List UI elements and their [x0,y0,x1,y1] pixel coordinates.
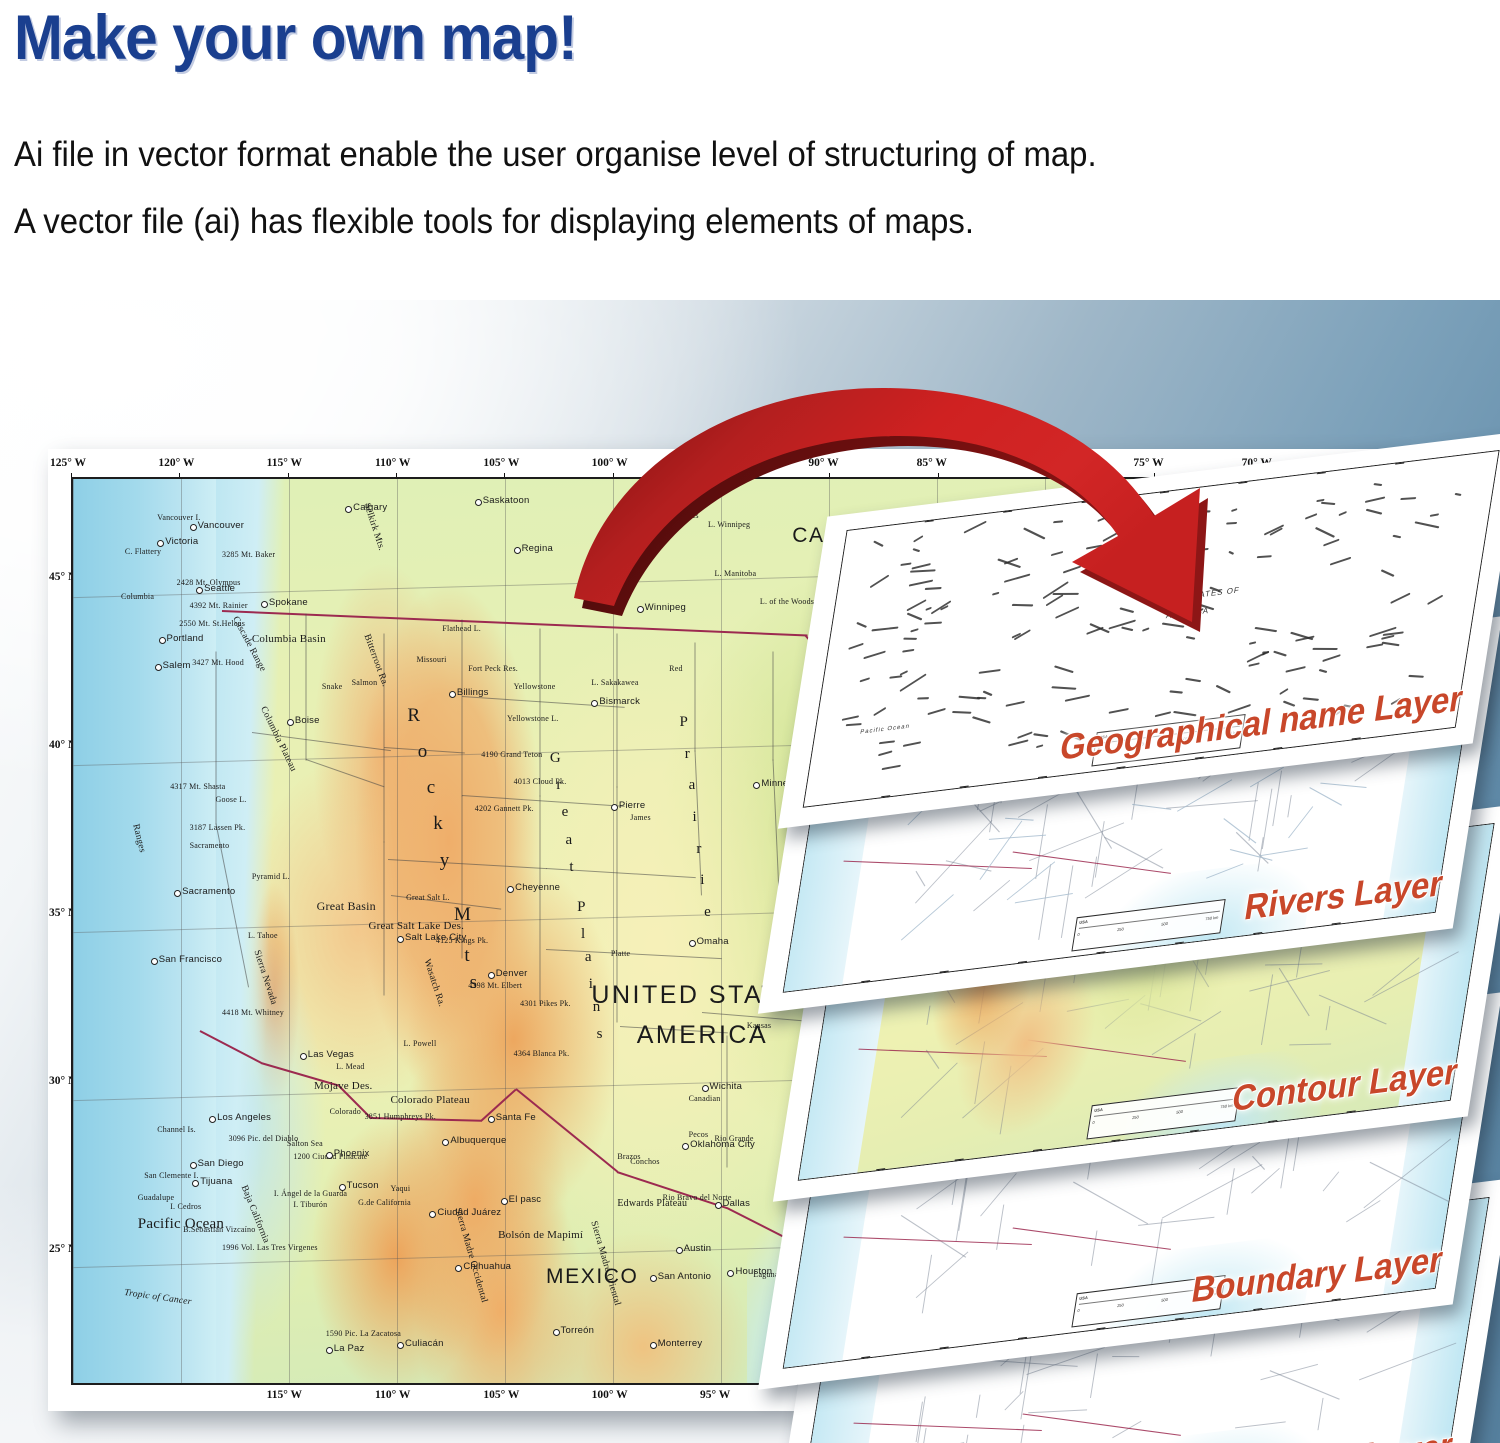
city-label: Omaha [697,936,729,947]
city-label: Boise [295,715,320,726]
ruler-top-label: 100° W [592,457,628,469]
map-label: Sacramento [190,841,230,850]
map-label: Conchos [630,1157,659,1166]
map-label: Canadian [689,1094,721,1103]
ruler-top-label: 105° W [483,457,519,469]
state-border [461,620,462,797]
city-label: Wichita [710,1081,743,1092]
header-line-2: A vector file (ai) has flexible tools fo… [14,202,974,242]
sheet-tick [1273,747,1282,749]
graticule-meridian [181,479,182,1383]
map-label: Rio Bravo del Norte [663,1193,732,1202]
sheet-tick [1238,482,1247,484]
ruler-top-label: 125° W [50,457,86,469]
city-label: Saskatoon [483,495,530,506]
city-label: Oklahoma City [690,1139,755,1150]
sheet-tick [1253,1308,1262,1310]
sheet-tick [1351,737,1360,739]
city-label: Pierre [619,800,646,811]
map-label: Yellowstone L. [507,714,558,723]
sheet-tick [1175,1318,1184,1320]
city-marker [715,1202,722,1209]
map-label: B.Sebastián Vizcaíno [183,1225,255,1234]
map-label: e [562,804,569,821]
map-label: Great Salt Lake Des. [368,920,464,932]
map-label: a [689,777,696,794]
map-label: Guadalupe [138,1193,174,1202]
map-label: P [680,714,689,731]
sheet-tick [959,785,968,787]
city-label: Bismarck [599,696,640,707]
city-marker [190,1162,197,1169]
map-label: 3187 Lassen Pk. [190,823,246,832]
sheet-tick [1096,1327,1105,1329]
map-label: R [407,705,420,727]
illustration-stage: 125° W120° W115° W110° W105° W100° W95° … [0,300,1500,1443]
city-marker [300,1053,307,1060]
map-label: Colorado Plateau [391,1094,470,1106]
map-label: Pecos [689,1130,709,1139]
city-label: Calgary [353,502,387,513]
sheet-tick [1316,472,1325,474]
map-label: 3427 Mt. Hood [192,658,244,667]
map-label: L. Manitoba [715,569,757,578]
city-marker [475,499,482,506]
map-label: I. Cedros [170,1202,201,1211]
map-label: r [696,841,701,858]
city-marker [650,1275,657,1282]
map-label: Great Basin [317,899,376,914]
map-label: 4202 Gannett Pk. [475,804,534,813]
sheet-tick [1331,922,1340,924]
map-label: Yaqui [391,1184,411,1193]
map-label: Missouri [416,655,446,664]
city-label: Salt Lake City [405,932,466,943]
sheet-tick [1175,942,1184,944]
state-border [695,642,696,751]
city-marker [155,664,162,671]
city-label: Houston [735,1266,772,1277]
map-label: i [692,809,696,826]
map-label: L. Winnipegosis [643,511,698,520]
ruler-top-label: 95° W [700,457,730,469]
map-label: 4190 Grand Teton [481,750,542,759]
sheet-tick [1018,961,1027,963]
map-label: k [433,813,443,835]
map-label: 4317 Mt. Shasta [170,782,225,791]
city-marker [326,1347,333,1354]
city-label: Las Vegas [308,1049,354,1060]
map-label: L. of the Woods [760,597,814,606]
city-marker [488,972,495,979]
city-label: Regina [522,543,553,554]
city-label: La Paz [334,1343,365,1354]
sheet-tick [861,980,870,982]
map-label: y [440,850,450,872]
map-label: Fort Peck Res. [468,664,518,673]
state-border [384,841,385,995]
city-label: Tijuana [200,1176,232,1187]
sheet-tick [1033,1149,1042,1151]
sheet-tick [876,1168,885,1170]
ruler-top-label: 85° W [917,457,947,469]
graticule-meridian [613,479,614,1383]
sheet-tick [1395,463,1404,465]
sheet-tick [1111,1139,1120,1141]
graticule-meridian [73,479,74,1383]
city-label: Albuquerque [450,1135,506,1146]
map-label: Goose L. [216,795,247,804]
sheet-tick [1331,1298,1340,1300]
sheet-tick [1268,1120,1277,1122]
map-label: c [427,777,436,799]
map-label: e [704,904,711,921]
city-label: Chihuahua [463,1261,511,1272]
graticule-meridian [505,479,506,1383]
city-label: San Diego [198,1158,244,1169]
map-label: L. Sakakawea [591,678,638,687]
city-label: Vancouver [198,520,245,531]
sheet-tick [861,1356,870,1358]
city-label: Austin [684,1243,712,1254]
city-marker [637,606,644,613]
city-marker [501,1198,508,1205]
city-marker [151,958,158,965]
city-label: Billings [457,687,489,698]
map-label: r [685,746,690,763]
sheet-tick [1253,932,1262,934]
map-label: t [464,945,469,967]
map-label: Red [669,664,683,673]
ruler-bottom-label: 95° W [700,1389,730,1401]
map-label: i [700,872,704,889]
ruler-bottom-label: 110° W [375,1389,410,1401]
page-title: Make your own map! [14,2,577,74]
city-marker [192,1180,199,1187]
city-label: Salem [163,660,191,671]
map-label: 3851 Humphreys Pk. [365,1112,436,1121]
map-label: L. Powell [403,1039,436,1048]
city-label: Torreón [561,1325,595,1336]
map-label: a [565,832,572,849]
map-label: 4013 Cloud Pk. [514,777,567,786]
map-label: Pyramid L. [252,872,290,881]
header-line-1: Ai file in vector format enable the user… [14,135,1097,175]
page-header: Make your own map! Ai file in vector for… [0,0,1500,300]
map-label: Colorado [330,1107,361,1116]
state-border [539,796,540,1005]
ruler-bottom-label: 115° W [267,1389,302,1401]
city-label: Santa Fe [496,1112,536,1123]
map-label: 1996 Vol. Las Tres Virgenes [222,1243,318,1252]
city-label: Cheyenne [515,882,560,893]
city-marker [689,940,696,947]
sheet-tick [1003,511,1012,513]
map-label: Great Salt L. [406,893,450,902]
sheet-tick [1195,757,1204,759]
map-label: G.de California [358,1198,411,1207]
city-label: Spokane [269,597,308,608]
city-label: Seattle [204,583,235,594]
map-label: L. Mead [336,1062,365,1071]
city-label: Dallas [723,1198,751,1209]
sheet-tick [939,1346,948,1348]
map-label: Bolsón de Mapimí [498,1229,583,1241]
city-label: Ciudad Juárez [437,1207,501,1218]
map-label: o [418,741,428,763]
city-marker [514,547,521,554]
map-label: P [577,899,586,916]
sheet-tick [1081,501,1090,503]
city-marker [507,886,514,893]
map-label: Kansas [747,1021,771,1030]
ruler-top-label: 75° W [1133,457,1163,469]
map-label: Columbia Basin [252,633,326,645]
state-border [384,633,385,842]
map-label: Columbia [121,592,154,601]
sheet-tick [1190,1130,1199,1132]
city-label: Victoria [165,536,198,547]
sheet-tick [954,1158,963,1160]
map-label: I. Ángel de la Guarda [274,1189,347,1198]
map-label: s [597,1026,603,1043]
map-label: C. Flattery [125,547,161,556]
ruler-top-label: 90° W [808,457,838,469]
city-marker [287,719,294,726]
city-label: San Antonio [658,1271,711,1282]
sheet-tick [1116,766,1125,768]
map-label: Platte [611,949,630,958]
map-label: San Clemente I. [144,1171,198,1180]
map-label: 3285 Mt. Baker [222,550,275,559]
ruler-bottom-label: 105° W [483,1389,519,1401]
map-label: 2550 Mt. St.Helens [179,619,245,628]
city-marker [339,1184,346,1191]
state-border [772,651,773,760]
city-label: El pasc [509,1194,542,1205]
city-marker [261,601,268,608]
city-label: Monterrey [658,1338,703,1349]
city-label: Culiacán [405,1338,444,1349]
city-marker [190,524,197,531]
map-label: Flathead L. [442,624,481,633]
map-label: 3096 Pic. del Diablo [229,1134,299,1143]
city-label: Winnipeg [645,602,686,613]
map-label: Yellowstone [514,682,556,691]
city-label: Portland [167,633,204,644]
sheet-tick [939,970,948,972]
map-label: James [630,813,651,822]
ruler-bottom-label: 100° W [592,1389,628,1401]
map-label: Snake [322,682,343,691]
map-label: i [589,976,593,993]
city-marker [397,936,404,943]
city-marker [553,1329,560,1336]
city-label: Phoenix [334,1148,370,1159]
city-marker [702,1085,709,1092]
city-label: Denver [496,968,528,979]
map-label: 4301 Pikes Pk. [520,999,571,1008]
map-label: a [585,949,592,966]
map-label: 4398 Mt. Elbert [468,981,522,990]
sheet-tick [881,795,890,797]
city-marker [650,1342,657,1349]
map-label: L. Tahoe [248,931,278,940]
map-label: Salmon [352,678,378,687]
map-label: n [593,999,601,1016]
map-label: G [550,750,561,767]
ruler-top-label: 110° W [375,457,410,469]
map-label: I. Tiburón [293,1200,327,1209]
map-label: 4418 Mt. Whitney [222,1008,284,1017]
sheet-tick [1160,491,1169,493]
city-marker [159,637,166,644]
ruler-top-label: 115° W [267,457,302,469]
city-marker [488,1116,495,1123]
sheet-tick [1038,776,1047,778]
city-label: Los Angeles [217,1112,271,1123]
ruler-top-label: 120° W [158,457,194,469]
map-label: 4364 Blanca Pk. [514,1049,570,1058]
map-label: 1590 Pic. La Zacatosa [326,1329,401,1338]
state-border [539,629,540,797]
city-label: San Francisco [159,954,222,965]
graticule-meridian [721,479,722,1383]
map-label: t [569,859,573,876]
sheet-tick [1018,1337,1027,1339]
map-label: Vancouver I. [157,513,200,522]
sheet-tick [1096,951,1105,953]
sheet-tick [925,520,934,522]
map-label: 4392 Mt. Rainier [190,601,248,610]
map-label: l [581,926,585,943]
sheet-tick [1346,1110,1355,1112]
map-label: Channel Is. [157,1125,196,1134]
map-label: MEXICO [546,1265,638,1289]
city-label: Tucson [347,1180,379,1191]
map-label: L. Winnipeg [708,520,750,529]
city-label: Sacramento [182,886,235,897]
map-label: Mojave Des. [314,1080,372,1092]
